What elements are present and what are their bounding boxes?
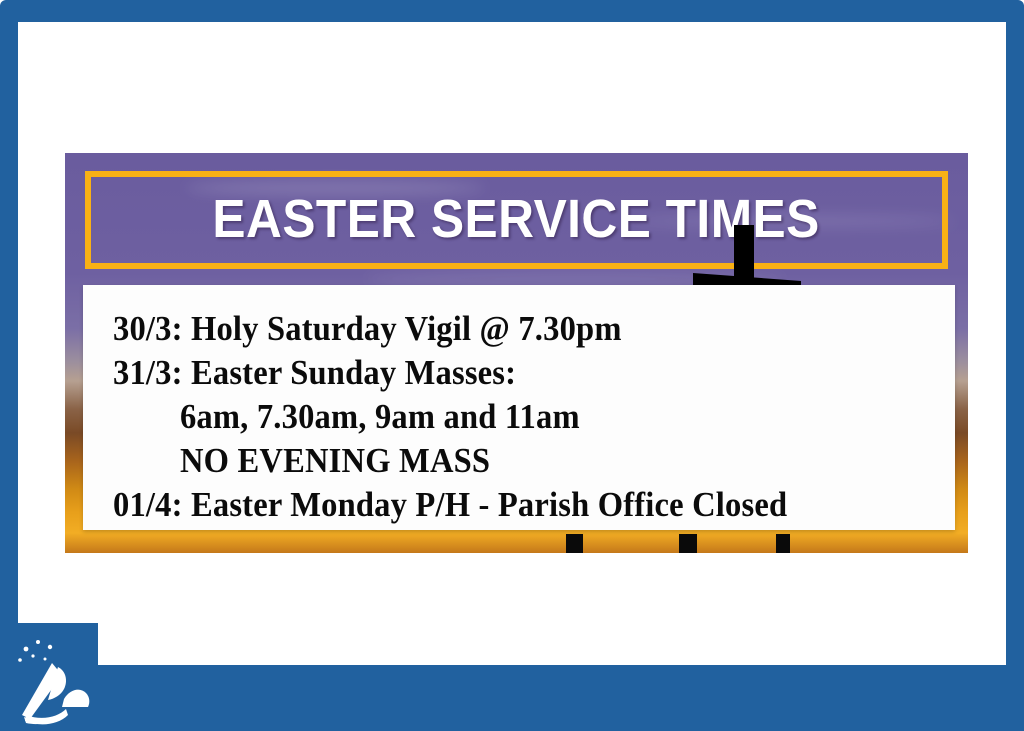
service-line-5: 01/4: Easter Monday P/H - Parish Office … xyxy=(113,483,883,527)
service-line-4: NO EVENING MASS xyxy=(113,439,883,483)
parish-logo-icon xyxy=(0,623,98,731)
service-times-panel: 30/3: Holy Saturday Vigil @ 7.30pm 31/3:… xyxy=(83,285,955,530)
ground-mark-1 xyxy=(566,534,583,553)
service-line-2: 31/3: Easter Sunday Masses: xyxy=(113,351,883,395)
ground-mark-3 xyxy=(776,534,790,553)
ground-mark-2 xyxy=(679,534,697,553)
service-times-list: 30/3: Holy Saturday Vigil @ 7.30pm 31/3:… xyxy=(113,307,941,527)
slide-canvas: EASTER SERVICE TIMES 30/3: Holy Saturday… xyxy=(0,0,1024,731)
logo-badge xyxy=(0,623,98,731)
banner-title-text: EASTER SERVICE TIMES xyxy=(213,188,820,250)
title-banner: EASTER SERVICE TIMES xyxy=(85,171,948,269)
easter-service-card: EASTER SERVICE TIMES 30/3: Holy Saturday… xyxy=(65,153,968,553)
service-line-3: 6am, 7.30am, 9am and 11am xyxy=(113,395,883,439)
service-line-1: 30/3: Holy Saturday Vigil @ 7.30pm xyxy=(113,307,883,351)
